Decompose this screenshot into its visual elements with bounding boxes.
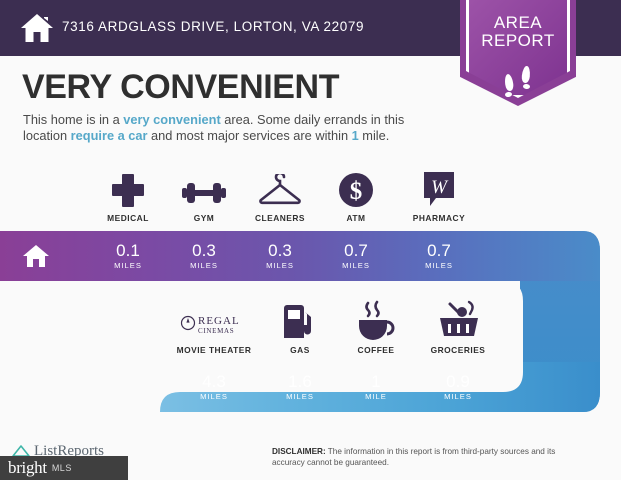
distance-value-cleaners: 0.3	[268, 242, 292, 259]
distance-cell-pharmacy: 0.7 MILES	[394, 231, 484, 281]
amenity-gym: GYM	[166, 168, 242, 223]
intro-highlight-convenience: very convenient	[123, 112, 220, 127]
svg-text:CINEMAS: CINEMAS	[198, 327, 234, 335]
distance-unit-coffee: MILE	[365, 392, 387, 401]
amenity-label-coffee: COFFEE	[338, 345, 414, 355]
distance-unit-groceries: MILES	[444, 392, 472, 401]
distance-cell-coffee: 1 MILE	[338, 362, 414, 412]
distance-unit-gym: MILES	[190, 261, 218, 270]
home-icon	[20, 12, 54, 44]
distance-unit-medical: MILES	[114, 261, 142, 270]
intro-part-1: This home is in a	[23, 112, 123, 127]
amenity-label-gym: GYM	[166, 213, 242, 223]
page-title: VERY CONVENIENT	[22, 68, 339, 107]
distance-cell-movie-theater: 4.3 MILES	[166, 362, 262, 412]
distance-cell-gas: 1.6 MILES	[262, 362, 338, 412]
badge-line-2: REPORT	[466, 32, 570, 50]
area-report-page: 7316 ARDGLASS DRIVE, LORTON, VA 22079 AR…	[0, 0, 621, 480]
intro-part-3: and most major services are within	[148, 128, 352, 143]
distance-unit-pharmacy: MILES	[425, 261, 453, 270]
distance-unit-atm: MILES	[342, 261, 370, 270]
gas-pump-icon	[262, 300, 338, 340]
distance-unit-cleaners: MILES	[266, 261, 294, 270]
distance-value-medical: 0.1	[116, 242, 140, 259]
amenity-icon-row-2: REGAL CINEMAS MOVIE THEATER GAS	[0, 300, 621, 356]
dumbbell-icon	[166, 168, 242, 208]
distance-cell-cleaners: 0.3 MILES	[242, 231, 318, 281]
distance-value-gym: 0.3	[192, 242, 216, 259]
bright-mls-suffix: MLS	[52, 463, 72, 473]
walgreens-logo-icon: W	[394, 168, 484, 208]
intro-highlight-distance: 1	[352, 128, 359, 143]
distance-value-movie-theater: 4.3	[202, 373, 226, 390]
area-report-badge-label: AREA REPORT	[466, 14, 570, 50]
distance-cell-atm: 0.7 MILES	[318, 231, 394, 281]
distance-cell-gym: 0.3 MILES	[166, 231, 242, 281]
amenity-label-gas: GAS	[262, 345, 338, 355]
grocery-basket-icon	[414, 300, 502, 340]
amenity-cleaners: CLEANERS	[242, 168, 318, 223]
distance-unit-gas: MILES	[286, 392, 314, 401]
distance-value-groceries: 0.9	[446, 373, 470, 390]
amenity-medical: MEDICAL	[90, 168, 166, 223]
intro-part-4: mile.	[359, 128, 390, 143]
amenity-icon-row-1: MEDICAL GYM CLEANERS	[0, 168, 621, 224]
distance-bar-row-1: 0.1 MILES 0.3 MILES 0.3 MILES 0.7 MILES …	[0, 231, 621, 281]
distance-bar-row-2: 4.3 MILES 1.6 MILES 1 MILE 0.9 MILES	[0, 362, 621, 412]
svg-text:W: W	[431, 177, 449, 198]
amenity-label-groceries: GROCERIES	[414, 345, 502, 355]
amenity-label-movie-theater: MOVIE THEATER	[166, 345, 262, 355]
distance-unit-movie-theater: MILES	[200, 392, 228, 401]
amenity-label-medical: MEDICAL	[90, 213, 166, 223]
distance-value-pharmacy: 0.7	[427, 242, 451, 259]
amenity-label-pharmacy: PHARMACY	[394, 213, 484, 223]
coffee-cup-icon	[338, 300, 414, 340]
amenity-movie-theater: REGAL CINEMAS MOVIE THEATER	[166, 300, 262, 355]
bright-mls-logo: bright MLS	[0, 456, 128, 480]
distance-value-coffee: 1	[371, 373, 380, 390]
regal-cinemas-logo-icon: REGAL CINEMAS	[166, 300, 262, 340]
svg-text:$: $	[350, 178, 363, 205]
property-address: 7316 ARDGLASS DRIVE, LORTON, VA 22079	[62, 19, 364, 34]
medical-cross-icon	[90, 168, 166, 208]
disclaimer: DISCLAIMER: The information in this repo…	[272, 446, 590, 468]
amenity-atm: $ ATM	[318, 168, 394, 223]
amenity-label-atm: ATM	[318, 213, 394, 223]
intro-highlight-car: require a car	[71, 128, 148, 143]
amenity-coffee: COFFEE	[338, 300, 414, 355]
amenity-pharmacy: W PHARMACY	[394, 168, 484, 223]
distance-cell-medical: 0.1 MILES	[90, 231, 166, 281]
amenity-label-cleaners: CLEANERS	[242, 213, 318, 223]
amenity-groceries: GROCERIES	[414, 300, 502, 355]
distance-value-atm: 0.7	[344, 242, 368, 259]
badge-line-1: AREA	[466, 14, 570, 32]
intro-paragraph: This home is in a very convenient area. …	[23, 112, 443, 144]
distance-cell-groceries: 0.9 MILES	[414, 362, 502, 412]
distance-value-gas: 1.6	[288, 373, 312, 390]
bright-mls-wordmark: bright	[8, 458, 47, 478]
dollar-circle-icon: $	[318, 168, 394, 208]
svg-text:REGAL: REGAL	[198, 315, 240, 327]
amenity-gas: GAS	[262, 300, 338, 355]
clothes-hanger-icon	[242, 168, 318, 208]
disclaimer-label: DISCLAIMER:	[272, 447, 326, 456]
